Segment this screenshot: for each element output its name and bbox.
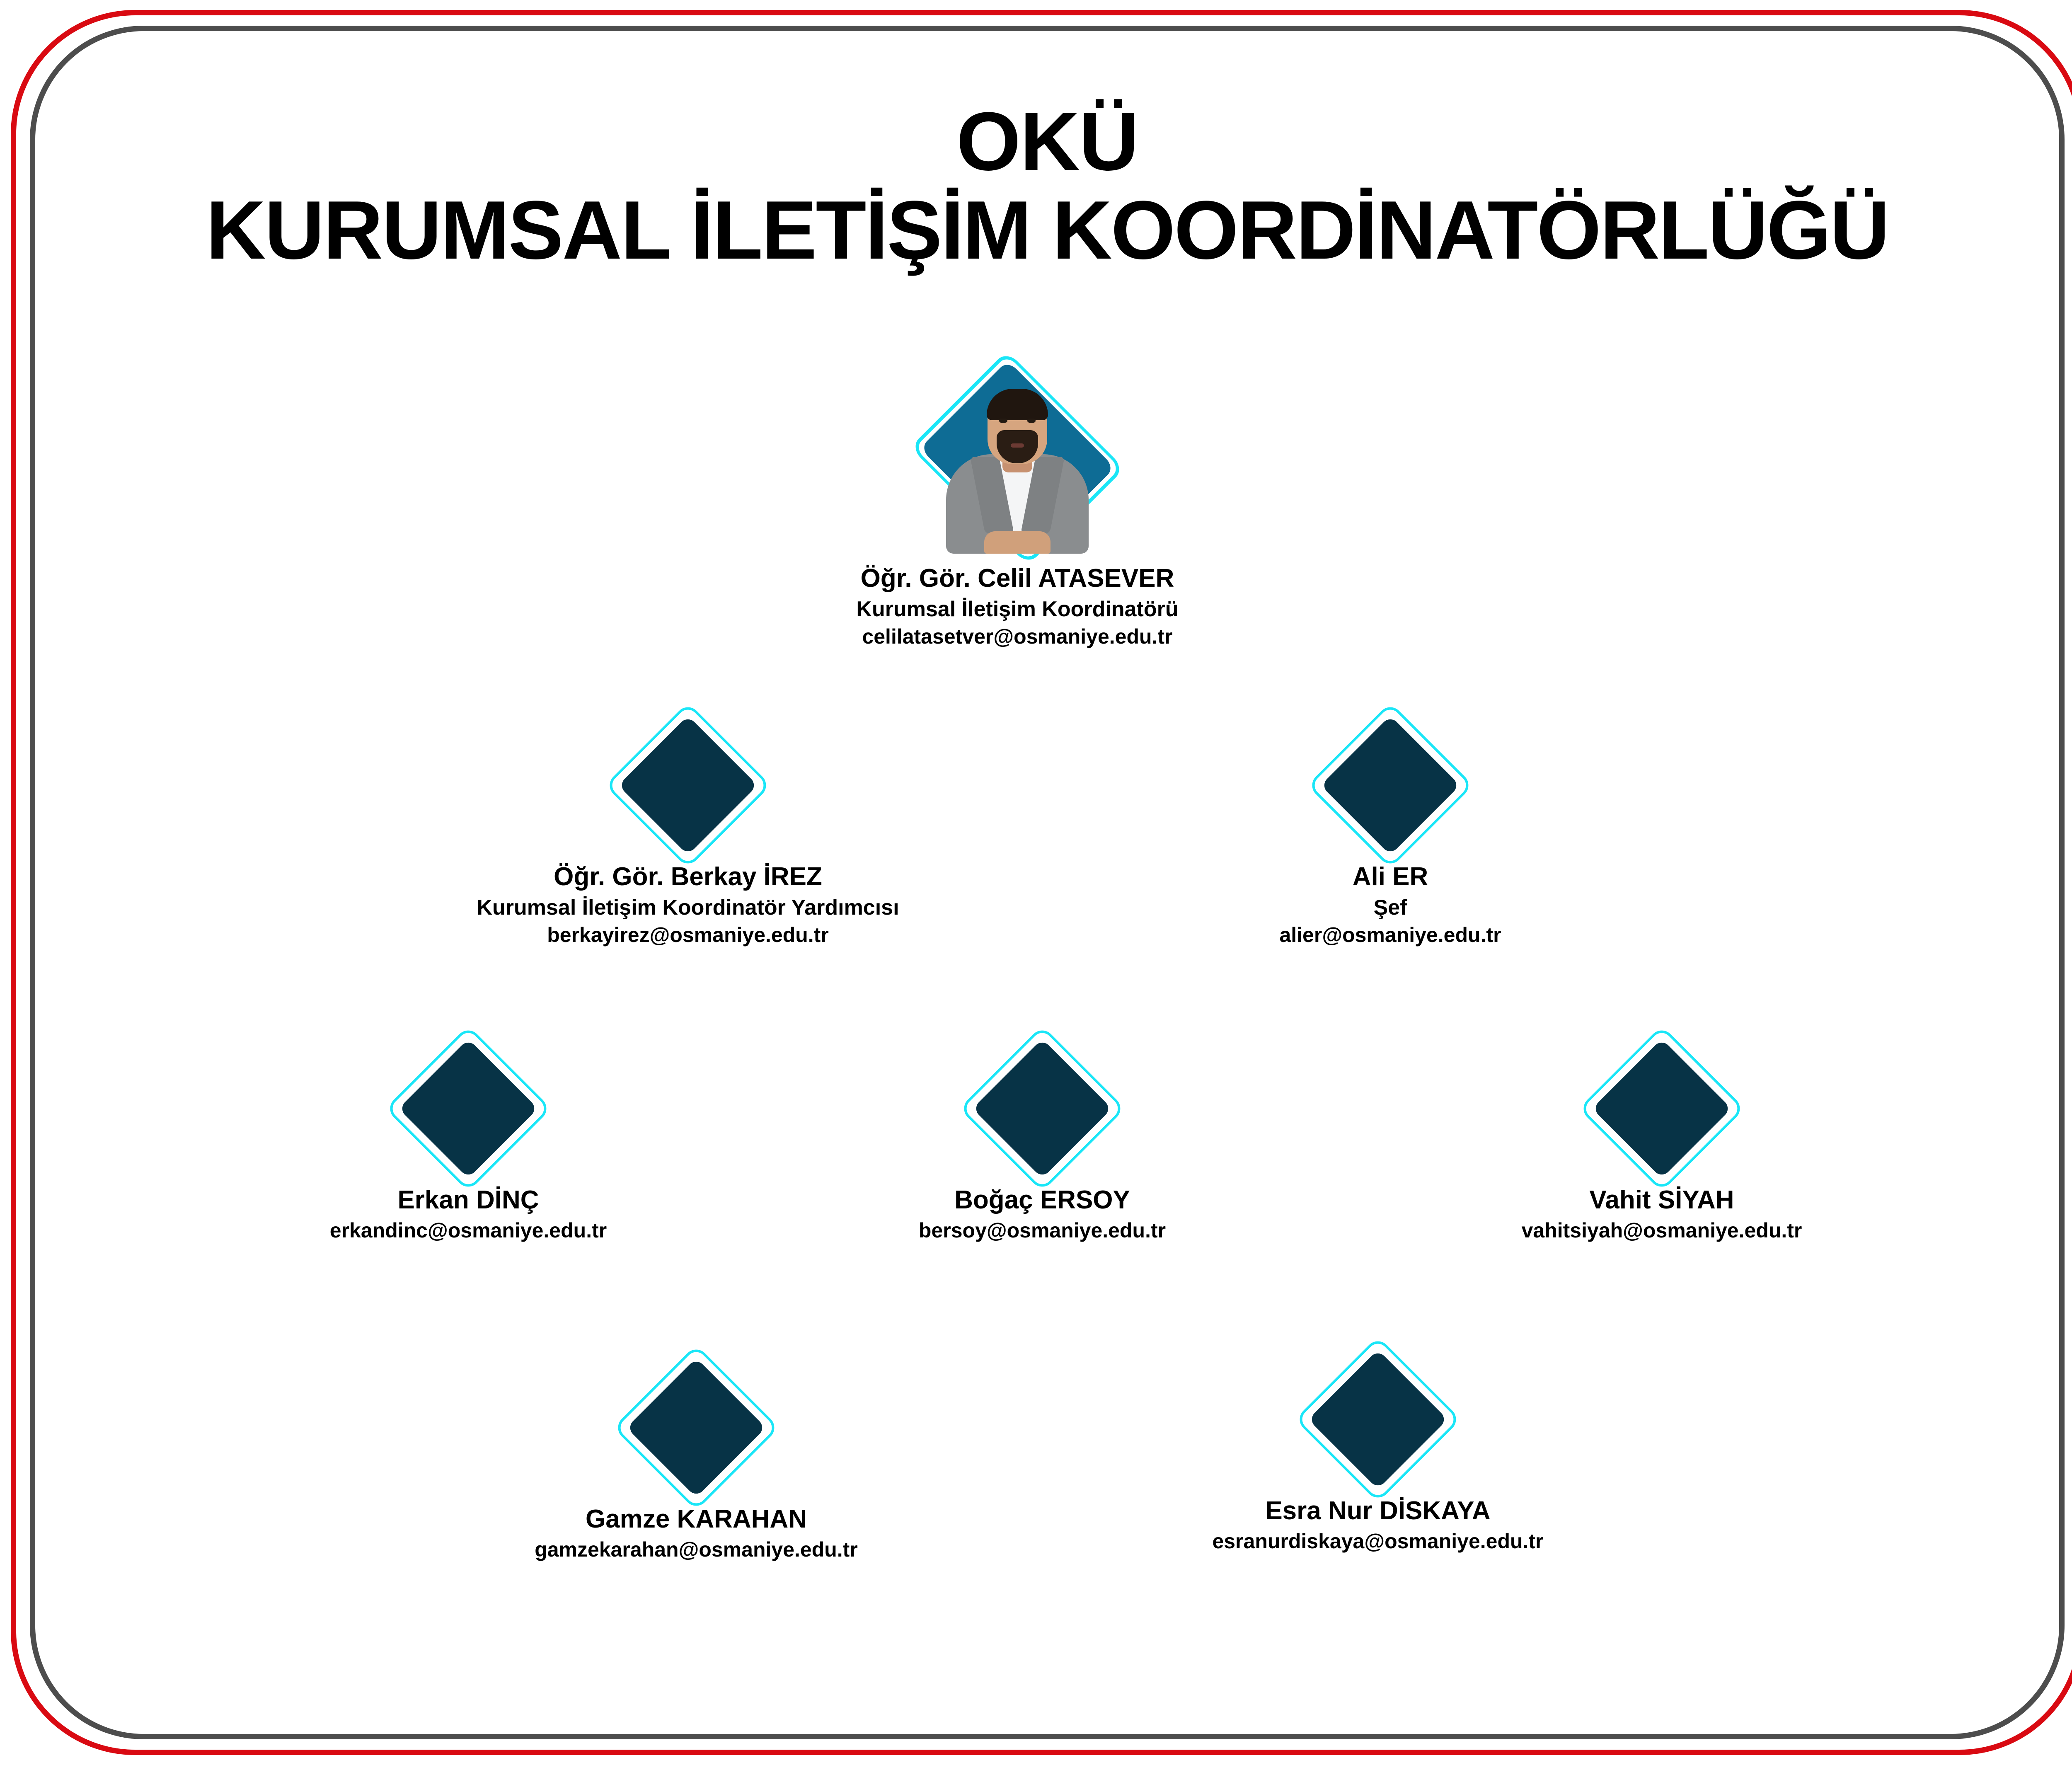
dinc-shape-wrap xyxy=(178,1040,758,1177)
irez-diamond xyxy=(620,717,756,854)
title-department: KURUMSAL İLETİŞİM KOORDİNATÖRLÜĞÜ xyxy=(0,184,2072,277)
siyah-diamond xyxy=(1593,1040,1730,1177)
coordinator-photo xyxy=(945,375,1090,554)
alier-diamond xyxy=(1322,717,1459,854)
coordinator-shape-wrap xyxy=(727,361,1307,555)
alier-shape-wrap xyxy=(1100,717,1680,854)
person-name: Boğaç ERSOY xyxy=(752,1184,1332,1217)
person-name: Öğr. Gör. Berkay İREZ xyxy=(398,860,978,894)
diamond-outline xyxy=(613,1344,779,1511)
photo-hands xyxy=(984,531,1051,554)
alier-label: Ali ER Şef alier@osmaniye.edu.tr xyxy=(1100,860,1680,949)
photo-mouth xyxy=(1011,443,1024,448)
person-name: Vahit SİYAH xyxy=(1372,1184,1952,1217)
org-node-gamze-karahan[interactable]: Gamze KARAHAN gamzekarahan@osmaniye.edu.… xyxy=(406,1359,986,1563)
person-name: Esra Nur DİSKAYA xyxy=(1088,1494,1668,1528)
person-name: Gamze KARAHAN xyxy=(406,1503,986,1536)
esra-shape-wrap xyxy=(1088,1351,1668,1488)
person-email[interactable]: berkayirez@osmaniye.edu.tr xyxy=(398,922,978,949)
person-email[interactable]: celilatasetver@osmaniye.edu.tr xyxy=(727,623,1307,650)
dinc-label: Erkan DİNÇ erkandinc@osmaniye.edu.tr xyxy=(178,1184,758,1244)
siyah-label: Vahit SİYAH vahitsiyah@osmaniye.edu.tr xyxy=(1372,1184,1952,1244)
page-title: OKÜ KURUMSAL İLETİŞİM KOORDİNATÖRLÜĞÜ xyxy=(0,99,2072,277)
person-email[interactable]: gamzekarahan@osmaniye.edu.tr xyxy=(406,1536,986,1563)
diamond-outline xyxy=(385,1025,552,1192)
person-name: Öğr. Gör. Celil ATASEVER xyxy=(727,562,1307,596)
ersoy-diamond xyxy=(974,1040,1111,1177)
org-node-esra-nur-diskaya[interactable]: Esra Nur DİSKAYA esranurdiskaya@osmaniye… xyxy=(1088,1351,1668,1555)
diamond-outline xyxy=(1295,1336,1461,1503)
person-name: Erkan DİNÇ xyxy=(178,1184,758,1217)
org-node-berkay-irez[interactable]: Öğr. Gör. Berkay İREZ Kurumsal İletişim … xyxy=(398,717,978,949)
org-node-erkan-dinc[interactable]: Erkan DİNÇ erkandinc@osmaniye.edu.tr xyxy=(178,1040,758,1244)
siyah-shape-wrap xyxy=(1372,1040,1952,1177)
person-email[interactable]: esranurdiskaya@osmaniye.edu.tr xyxy=(1088,1528,1668,1555)
coordinator-label: Öğr. Gör. Celil ATASEVER Kurumsal İletiş… xyxy=(727,562,1307,650)
gamze-diamond xyxy=(628,1359,765,1496)
person-role: Şef xyxy=(1100,894,1680,922)
diamond-outline xyxy=(605,702,771,869)
org-node-ali-er[interactable]: Ali ER Şef alier@osmaniye.edu.tr xyxy=(1100,717,1680,949)
ersoy-label: Boğaç ERSOY bersoy@osmaniye.edu.tr xyxy=(752,1184,1332,1244)
person-email[interactable]: bersoy@osmaniye.edu.tr xyxy=(752,1217,1332,1244)
coordinator-diamond xyxy=(889,361,1146,555)
ersoy-shape-wrap xyxy=(752,1040,1332,1177)
person-role: Kurumsal İletişim Koordinatörü xyxy=(727,596,1307,624)
person-email[interactable]: vahitsiyah@osmaniye.edu.tr xyxy=(1372,1217,1952,1244)
esra-label: Esra Nur DİSKAYA esranurdiskaya@osmaniye… xyxy=(1088,1494,1668,1555)
person-email[interactable]: erkandinc@osmaniye.edu.tr xyxy=(178,1217,758,1244)
photo-eye-right xyxy=(1027,419,1036,423)
photo-eye-left xyxy=(999,419,1007,423)
dinc-diamond xyxy=(400,1040,537,1177)
person-email[interactable]: alier@osmaniye.edu.tr xyxy=(1100,922,1680,949)
title-abbreviation: OKÜ xyxy=(0,99,2072,184)
diamond-outline xyxy=(1307,702,1474,869)
irez-shape-wrap xyxy=(398,717,978,854)
gamze-label: Gamze KARAHAN gamzekarahan@osmaniye.edu.… xyxy=(406,1503,986,1563)
org-node-bogac-ersoy[interactable]: Boğaç ERSOY bersoy@osmaniye.edu.tr xyxy=(752,1040,1332,1244)
org-node-vahit-siyah[interactable]: Vahit SİYAH vahitsiyah@osmaniye.edu.tr xyxy=(1372,1040,1952,1244)
diamond-outline xyxy=(1578,1025,1745,1192)
irez-label: Öğr. Gör. Berkay İREZ Kurumsal İletişim … xyxy=(398,860,978,949)
org-node-coordinator[interactable]: Öğr. Gör. Celil ATASEVER Kurumsal İletiş… xyxy=(727,361,1307,650)
diamond-outline xyxy=(959,1025,1126,1192)
inner-border-frame xyxy=(30,26,2065,1739)
person-name: Ali ER xyxy=(1100,860,1680,894)
person-role: Kurumsal İletişim Koordinatör Yardımcısı xyxy=(398,894,978,922)
photo-hair xyxy=(987,389,1048,420)
esra-diamond xyxy=(1310,1351,1446,1488)
gamze-shape-wrap xyxy=(406,1359,986,1496)
org-chart-poster: OKÜ KURUMSAL İLETİŞİM KOORDİNATÖRLÜĞÜ xyxy=(0,0,2072,1765)
